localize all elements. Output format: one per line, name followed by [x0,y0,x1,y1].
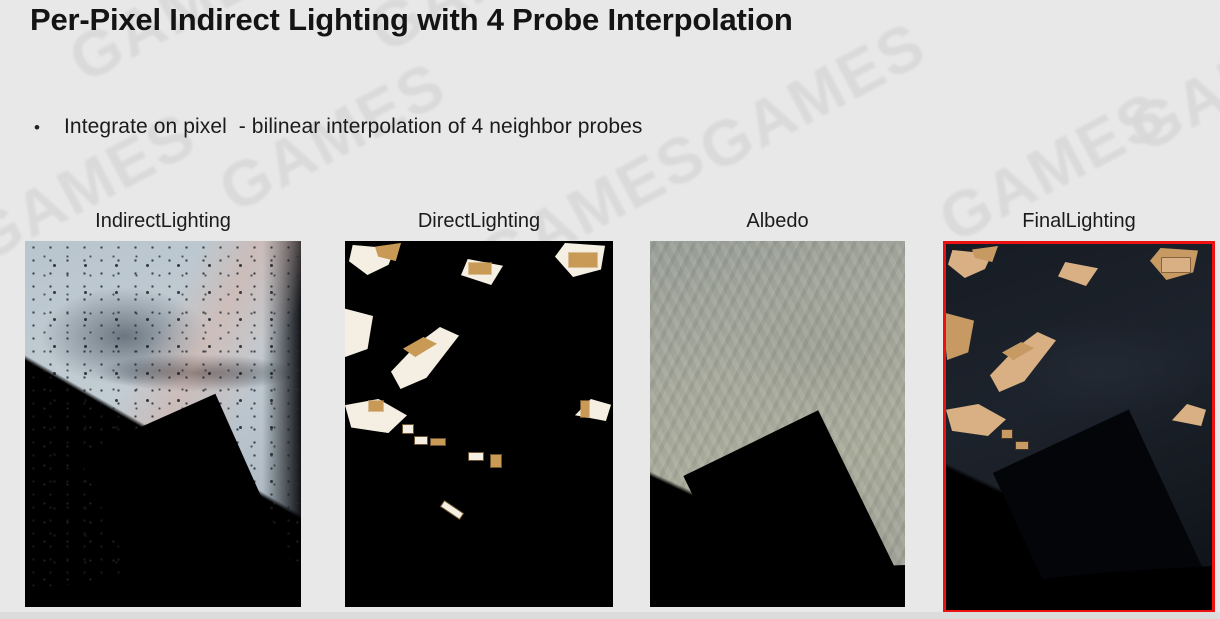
page-title: Per-Pixel Indirect Lighting with 4 Probe… [30,2,1130,38]
sun-patch [469,263,491,274]
panel-image-direct-lighting[interactable] [345,241,613,607]
lit-patch [943,312,974,360]
panel-caption-albedo: Albedo [650,205,905,241]
panel-caption-final-lighting: FinalLighting [943,205,1215,241]
lit-patch [1172,404,1206,426]
lit-patch [1162,258,1190,272]
bottom-separator-strip [0,612,1220,619]
panel-direct-lighting: DirectLighting [345,205,613,607]
lit-patch [1016,442,1028,449]
panel-image-final-lighting[interactable] [943,241,1215,613]
panel-indirect-lighting: IndirectLighting [25,205,301,607]
sun-patch [403,425,413,433]
lit-patch [1058,262,1098,286]
sun-patch [431,439,445,445]
sun-patch [569,253,597,267]
slide-canvas: GAMES GAMES GAMES GAMES GAMES GAMES GAME… [0,0,1220,619]
panel-caption-direct-lighting: DirectLighting [345,205,613,241]
panel-final-lighting: FinalLighting [943,205,1215,613]
sun-patch [491,455,501,467]
lit-patch [946,404,1006,436]
bullet-text: Integrate on pixel - bilinear interpolat… [64,115,643,139]
panel-albedo: Albedo [650,205,905,607]
sun-patch [369,401,383,411]
sun-patch [581,401,589,417]
sun-patch [345,307,373,357]
lit-patch [990,332,1056,392]
lit-patch [1002,430,1012,438]
panel-image-albedo[interactable] [650,241,905,607]
sun-patch [391,327,459,389]
render-buffer-panel-row: IndirectLighting DirectLighting [0,0,1220,619]
bullet-list-item: • Integrate on pixel - bilinear interpol… [34,115,643,139]
panel-caption-indirect-lighting: IndirectLighting [25,205,301,241]
panel-image-indirect-lighting[interactable] [25,241,301,607]
bullet-glyph-icon: • [34,119,64,136]
sun-patch [415,437,427,444]
sun-patch [469,453,483,460]
sun-patch [441,501,463,518]
